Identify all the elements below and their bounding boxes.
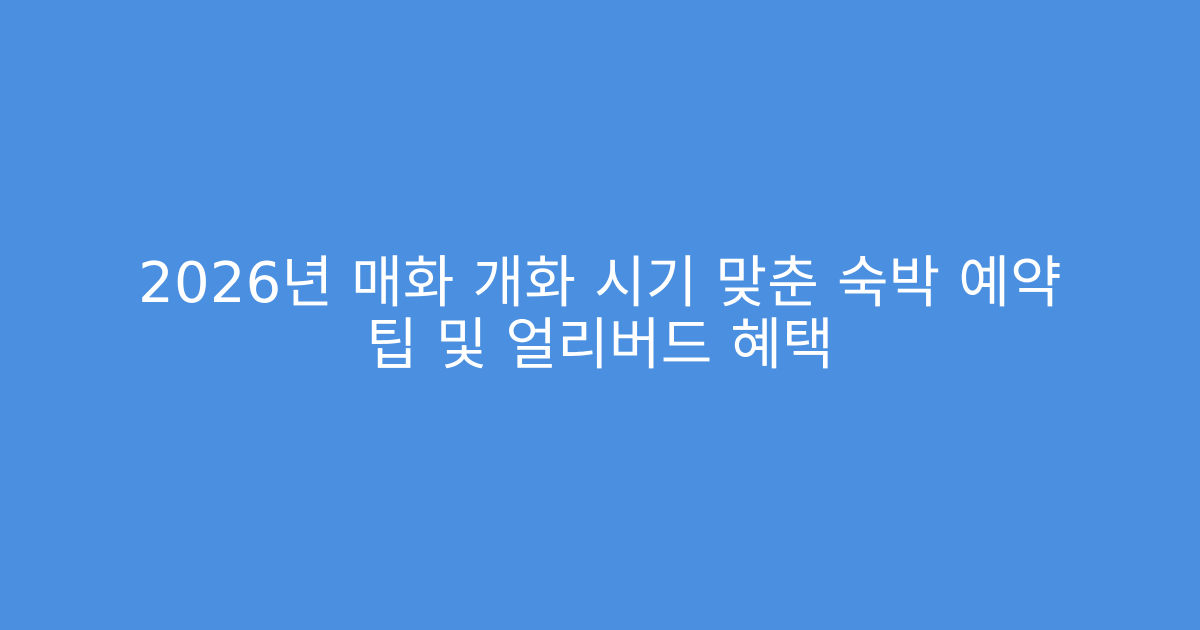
title-block: 2026년 매화 개화 시기 맞춘 숙박 예약 팁 및 얼리버드 혜택	[120, 253, 1080, 377]
page-title: 2026년 매화 개화 시기 맞춘 숙박 예약 팁 및 얼리버드 혜택	[120, 253, 1080, 377]
og-card: 2026년 매화 개화 시기 맞춘 숙박 예약 팁 및 얼리버드 혜택	[0, 0, 1200, 630]
